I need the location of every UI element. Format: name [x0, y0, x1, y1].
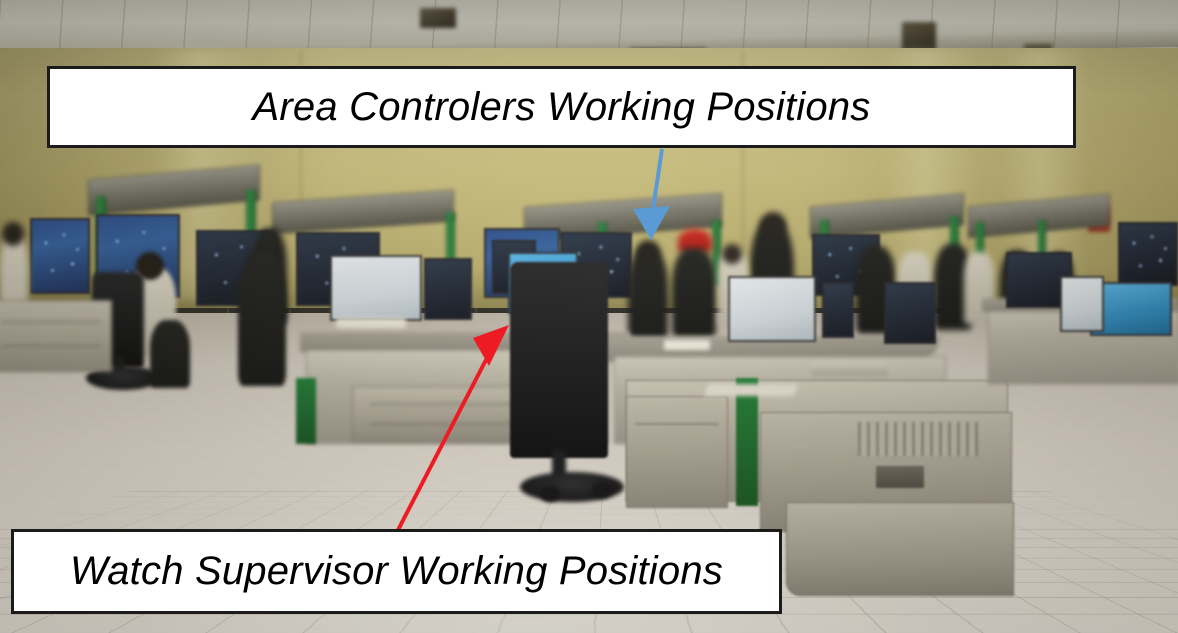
annotated-photo-figure: Area Controlers Working Positions Watch …: [0, 0, 1178, 633]
supervisor-chair: [510, 262, 608, 458]
seated-operator: [672, 248, 716, 338]
operator-head: [722, 244, 742, 264]
standing-controller-dark: [238, 250, 286, 386]
console-access-panel: [876, 466, 924, 488]
desk-papers: [664, 340, 710, 350]
workstation-monitor: [330, 255, 422, 321]
watch-supervisor-callout-label: Watch Supervisor Working Positions: [70, 549, 723, 594]
radar-monitor: [1118, 222, 1178, 286]
console-vent-grille: [858, 422, 978, 456]
workstation-monitor: [424, 258, 472, 320]
supervisor-display: [822, 282, 854, 338]
foreground-console-lower: [786, 502, 1014, 596]
chair-caster: [592, 482, 612, 498]
mid-desk-green-panel: [296, 378, 316, 444]
supervisor-display: [884, 282, 936, 344]
desk-keyboard: [812, 362, 888, 376]
right-workstation-monitor: [1060, 276, 1104, 332]
area-controllers-callout-box: Area Controlers Working Positions: [47, 66, 1076, 148]
chair-caster: [540, 486, 560, 502]
watch-supervisor-callout-box: Watch Supervisor Working Positions: [11, 529, 782, 614]
foreground-console-drawer: [626, 396, 728, 508]
operator-head: [636, 240, 660, 264]
left-equipment-cabinet: [0, 300, 112, 372]
area-controllers-callout-label: Area Controlers Working Positions: [253, 85, 871, 130]
supervisor-display: [728, 276, 816, 342]
ceiling-vent: [420, 8, 456, 28]
operator-head: [760, 212, 786, 238]
foreground-console-green-strip: [736, 378, 758, 506]
seated-controller-legs: [150, 320, 190, 388]
radar-monitor: [30, 218, 90, 294]
person-head: [2, 222, 24, 246]
desk-papers: [336, 318, 406, 328]
desk-papers: [704, 384, 798, 396]
